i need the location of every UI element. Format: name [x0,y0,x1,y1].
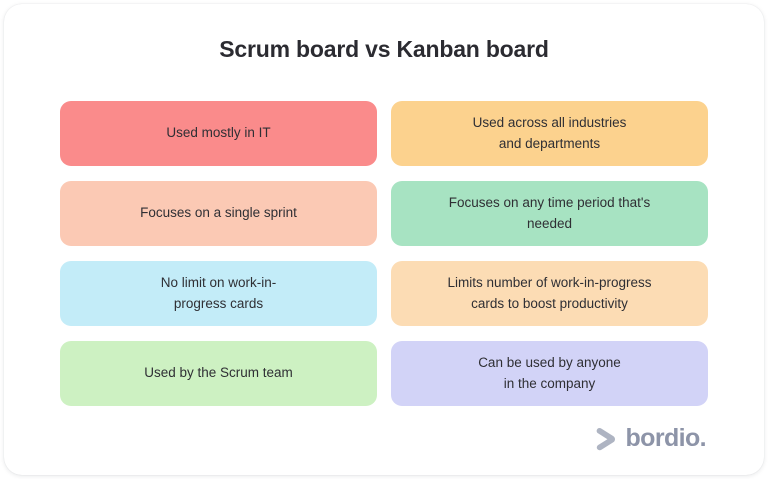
comparison-card-kanban-4: Can be used by anyone in the company [391,341,708,406]
comparison-card-scrum-2: Focuses on a single sprint [60,181,377,246]
page-title: Scrum board vs Kanban board [4,36,764,63]
comparison-card-scrum-4: Used by the Scrum team [60,341,377,406]
comparison-card-label: No limit on work-in- progress cards [161,273,277,315]
comparison-card-label: Focuses on a single sprint [140,203,297,224]
comparison-card-label: Can be used by anyone in the company [478,353,621,395]
comparison-card-scrum-1: Used mostly in IT [60,101,377,166]
brand-logo: bordio. [594,426,706,451]
comparison-card-label: Limits number of work-in-progress cards … [447,273,651,315]
comparison-card-label: Used by the Scrum team [144,363,293,384]
comparison-grid: Used mostly in IT Used across all indust… [60,101,708,406]
bordio-chevron-icon [594,427,616,451]
brand-name: bordio. [625,426,706,451]
comparison-card-label: Used mostly in IT [166,123,270,144]
comparison-card-kanban-1: Used across all industries and departmen… [391,101,708,166]
comparison-card-kanban-2: Focuses on any time period that's needed [391,181,708,246]
comparison-card-label: Used across all industries and departmen… [473,113,627,155]
content-sheet: Scrum board vs Kanban board Used mostly … [4,4,764,475]
screenshot-root: Scrum board vs Kanban board Used mostly … [0,0,768,479]
comparison-card-scrum-3: No limit on work-in- progress cards [60,261,377,326]
comparison-card-kanban-3: Limits number of work-in-progress cards … [391,261,708,326]
comparison-card-label: Focuses on any time period that's needed [449,193,650,235]
